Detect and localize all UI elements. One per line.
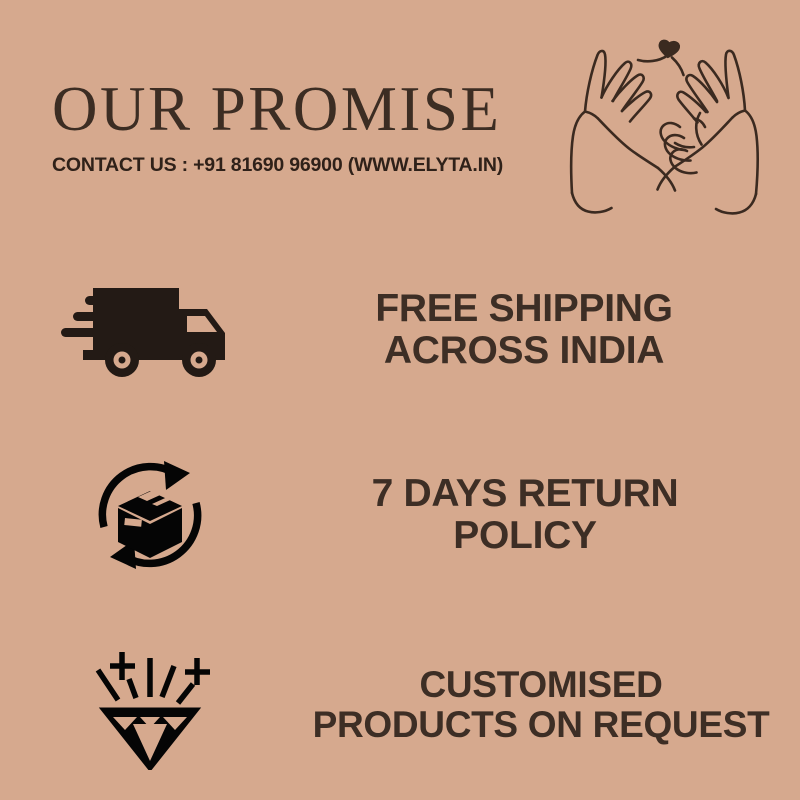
feature-row: FREE SHIPPING ACROSS INDIA: [0, 240, 800, 420]
pinky-promise-hands-icon: [534, 18, 792, 230]
feature-line-1: 7 DAYS RETURN: [300, 473, 750, 515]
feature-line-2: ACROSS INDIA: [300, 330, 748, 372]
title-block: OUR PROMISE CONTACT US : +91 81690 96900…: [52, 78, 552, 177]
feature-row: CUSTOMISED PRODUCTS ON REQUEST: [0, 610, 800, 800]
delivery-truck-icon: [0, 280, 300, 380]
heart-shape: [660, 41, 679, 57]
feature-line-1: CUSTOMISED: [300, 665, 782, 705]
feature-text: 7 DAYS RETURN POLICY: [300, 473, 800, 557]
feature-line-2: POLICY: [300, 515, 750, 557]
feature-text: CUSTOMISED PRODUCTS ON REQUEST: [300, 665, 800, 745]
promise-card: OUR PROMISE CONTACT US : +91 81690 96900…: [0, 0, 800, 800]
return-box-arrows-icon: [0, 455, 300, 575]
feature-row: 7 DAYS RETURN POLICY: [0, 420, 800, 610]
feature-text: FREE SHIPPING ACROSS INDIA: [300, 288, 800, 372]
contact-info: CONTACT US : +91 81690 96900 (WWW.ELYTA.…: [52, 154, 552, 177]
page-title: OUR PROMISE: [52, 78, 552, 141]
sparkling-diamond-icon: [0, 640, 300, 770]
feature-line-1: FREE SHIPPING: [300, 288, 748, 330]
header: OUR PROMISE CONTACT US : +91 81690 96900…: [0, 0, 800, 240]
feature-list: FREE SHIPPING ACROSS INDIA: [0, 240, 800, 800]
feature-line-2: PRODUCTS ON REQUEST: [300, 705, 782, 745]
